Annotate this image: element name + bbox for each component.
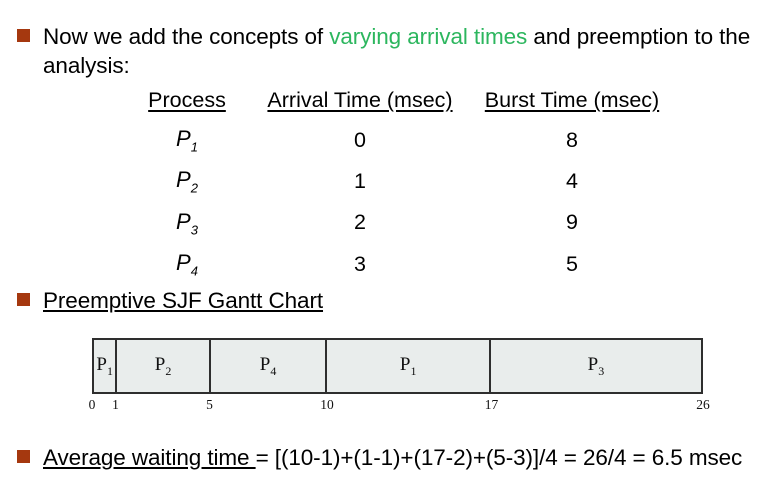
gantt-segment: P1 bbox=[327, 340, 490, 392]
cell-process: P3 bbox=[128, 203, 246, 244]
bullet-square-icon bbox=[17, 450, 30, 463]
cell-arrival: 2 bbox=[246, 203, 474, 244]
gantt-segment-label: P1 bbox=[96, 354, 113, 379]
bullet-square-icon bbox=[17, 29, 30, 42]
gantt-axis-tick: 10 bbox=[320, 397, 334, 413]
cell-burst: 4 bbox=[474, 161, 670, 202]
cell-process: P1 bbox=[128, 120, 246, 161]
gantt-segment-label: P1 bbox=[400, 354, 417, 379]
gantt-axis-tick: 26 bbox=[696, 397, 710, 413]
cell-arrival: 0 bbox=[246, 120, 474, 161]
gantt-axis-tick: 0 bbox=[89, 397, 96, 413]
gantt-segment: P1 bbox=[94, 340, 117, 392]
process-label: P1 bbox=[176, 126, 198, 151]
average-waiting-time-expression: = [(10-1)+(1-1)+(17-2)+(5-3)]/4 = 26/4 =… bbox=[256, 445, 743, 470]
gantt-segment-subscript: 4 bbox=[270, 363, 276, 377]
cell-process: P2 bbox=[128, 161, 246, 202]
header-arrival-time: Arrival Time (msec) bbox=[246, 88, 474, 120]
table-row: P4 3 5 bbox=[128, 244, 670, 285]
gantt-axis: 015101726 bbox=[92, 397, 703, 417]
gantt-axis-tick: 17 bbox=[485, 397, 499, 413]
gantt-bar: P1P2P4P1P3 bbox=[92, 338, 703, 394]
bullet-intro-text: Now we add the concepts of varying arriv… bbox=[43, 22, 757, 80]
gantt-title-label: Preemptive SJF Gantt Chart bbox=[43, 288, 323, 313]
cell-arrival: 3 bbox=[246, 244, 474, 285]
gantt-segment-subscript: 1 bbox=[410, 363, 416, 377]
gantt-segment-subscript: 2 bbox=[165, 363, 171, 377]
gantt-axis-tick: 5 bbox=[206, 397, 213, 413]
intro-highlight: varying arrival times bbox=[329, 24, 527, 49]
header-process: Process bbox=[128, 88, 246, 120]
gantt-segment-subscript: 3 bbox=[598, 363, 604, 377]
average-waiting-time-text: Average waiting time = [(10-1)+(1-1)+(17… bbox=[43, 443, 742, 472]
gantt-segment-label: P3 bbox=[588, 354, 605, 379]
bullet-average-waiting-time: Average waiting time = [(10-1)+(1-1)+(17… bbox=[17, 443, 762, 472]
gantt-chart: P1P2P4P1P3 015101726 bbox=[92, 338, 703, 417]
bullet-intro: Now we add the concepts of varying arriv… bbox=[17, 22, 757, 80]
table-row: P2 1 4 bbox=[128, 161, 670, 202]
bullet-square-icon bbox=[17, 293, 30, 306]
bullet-gantt-title: Preemptive SJF Gantt Chart bbox=[17, 286, 617, 315]
intro-text-before: Now we add the concepts of bbox=[43, 24, 329, 49]
table-header-row: Process Arrival Time (msec) Burst Time (… bbox=[128, 88, 670, 120]
table-row: P3 2 9 bbox=[128, 203, 670, 244]
cell-process: P4 bbox=[128, 244, 246, 285]
cell-burst: 5 bbox=[474, 244, 670, 285]
cell-burst: 9 bbox=[474, 203, 670, 244]
process-label: P2 bbox=[176, 167, 198, 192]
average-waiting-time-label: Average waiting time bbox=[43, 445, 256, 470]
process-label: P4 bbox=[176, 250, 198, 275]
gantt-segment: P2 bbox=[117, 340, 210, 392]
cell-burst: 8 bbox=[474, 120, 670, 161]
gantt-segment: P3 bbox=[491, 340, 701, 392]
gantt-segment: P4 bbox=[211, 340, 328, 392]
gantt-segment-label: P4 bbox=[260, 354, 277, 379]
process-table: Process Arrival Time (msec) Burst Time (… bbox=[128, 88, 670, 286]
table-row: P1 0 8 bbox=[128, 120, 670, 161]
cell-arrival: 1 bbox=[246, 161, 474, 202]
gantt-segment-subscript: 1 bbox=[107, 363, 113, 377]
header-burst-time: Burst Time (msec) bbox=[474, 88, 670, 120]
gantt-segment-label: P2 bbox=[155, 354, 172, 379]
gantt-title-text: Preemptive SJF Gantt Chart bbox=[43, 286, 323, 315]
process-label: P3 bbox=[176, 209, 198, 234]
gantt-axis-tick: 1 bbox=[112, 397, 119, 413]
